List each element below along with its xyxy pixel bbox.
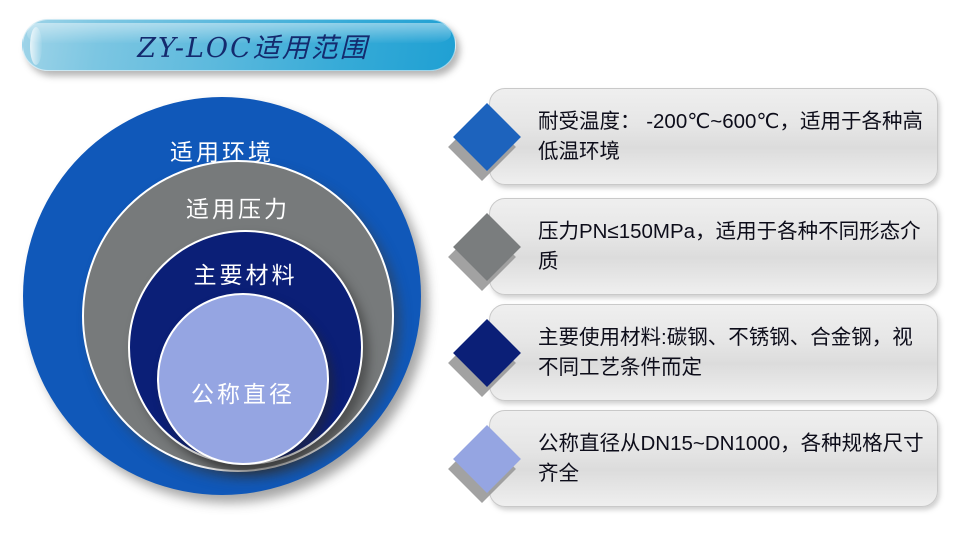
callout-text: 主要使用材料:碳钢、不锈钢、合金钢，视不同工艺条件而定 [538, 323, 925, 383]
callout-item[interactable]: 公称直径从DN15~DN1000，各种规格尺寸齐全 [489, 410, 938, 507]
callout-item[interactable]: 主要使用材料:碳钢、不锈钢、合金钢，视不同工艺条件而定 [489, 304, 938, 401]
ring-diameter[interactable]: 公称直径 [157, 293, 329, 465]
callout-text: 耐受温度： -200℃~600℃，适用于各种高低温环境 [538, 107, 925, 167]
callout-text: 公称直径从DN15~DN1000，各种规格尺寸齐全 [538, 429, 925, 489]
title-banner: ZY-LOC适用范围 [22, 19, 456, 71]
callout-text: 压力PN≤150MPa，适用于各种不同形态介质 [538, 217, 925, 277]
page-title: ZY-LOC适用范围 [137, 26, 368, 65]
callout-item[interactable]: 压力PN≤150MPa，适用于各种不同形态介质 [489, 198, 938, 295]
callout-list: 耐受温度： -200℃~600℃，适用于各种高低温环境 压力PN≤150MPa，… [489, 88, 941, 528]
ring-diameter-label: 公称直径 [191, 375, 295, 463]
callout-item[interactable]: 耐受温度： -200℃~600℃，适用于各种高低温环境 [489, 88, 938, 185]
nested-circles-diagram: 适用环境 适用压力 主要材料 公称直径 [0, 80, 470, 540]
